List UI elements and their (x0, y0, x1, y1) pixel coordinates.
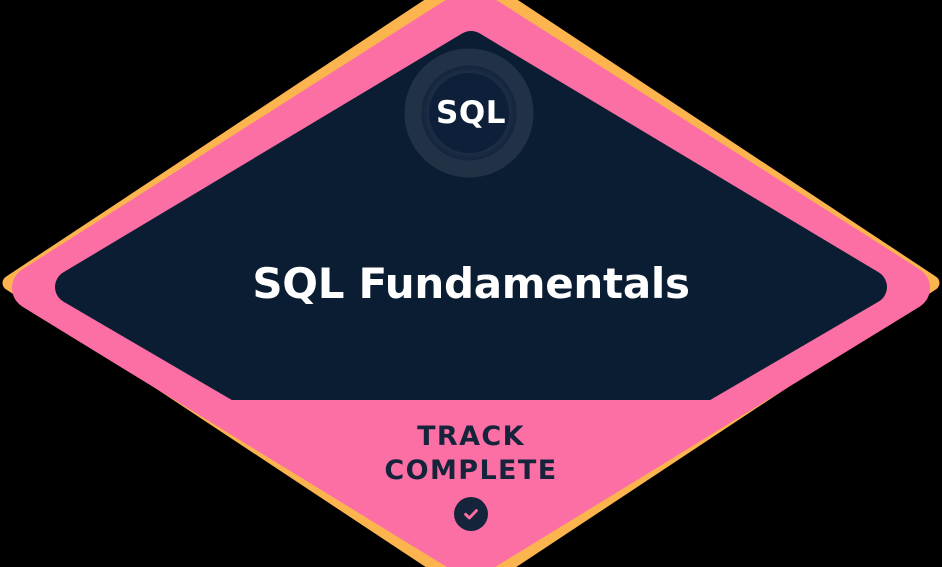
sql-emblem-ring-icon (410, 54, 528, 172)
track-completion-badge: SQL SQL Fundamentals TRACK COMPLETE (0, 0, 942, 567)
badge-shape-graphic (0, 0, 942, 567)
